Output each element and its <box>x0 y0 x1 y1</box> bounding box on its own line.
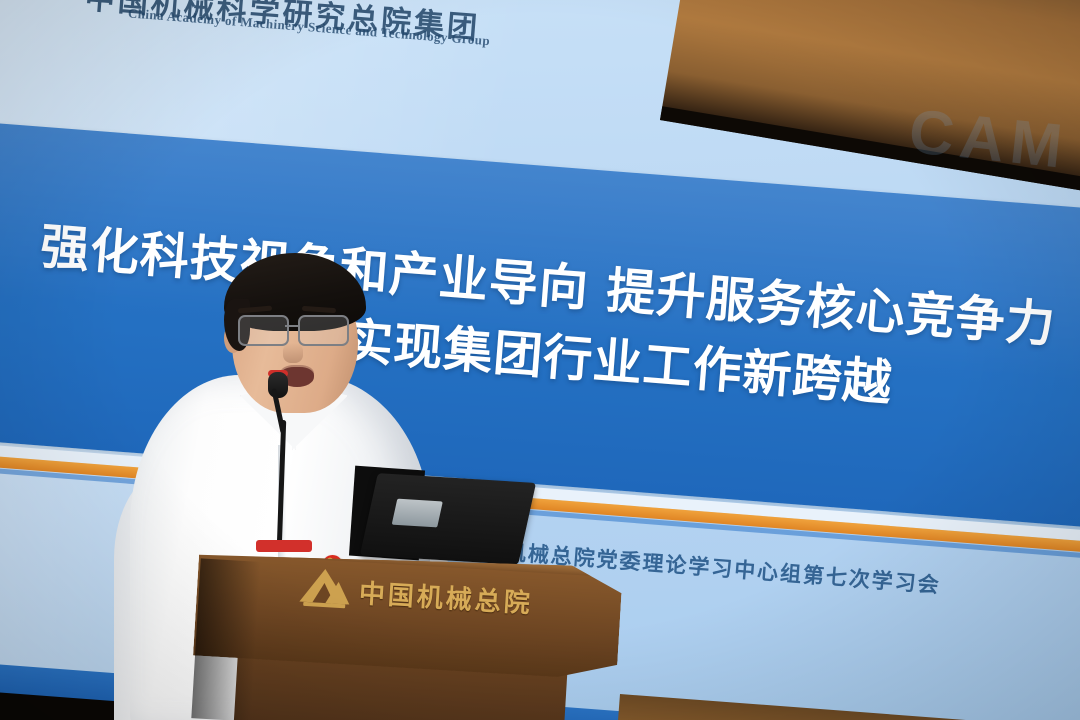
laptop-sticker <box>392 499 443 528</box>
cam-triangle-logo <box>299 570 349 609</box>
eyeglass-lens-left <box>238 315 289 346</box>
photo-stage: 中国机械科学研究总院集团 China Academy of Machinery … <box>0 0 1080 720</box>
eyeglass-bridge <box>285 325 298 327</box>
eyeglass-lens-right <box>298 315 349 346</box>
speaker-nose <box>283 343 303 363</box>
eyeglasses-icon <box>230 315 358 345</box>
podium-plaque-text: 中国机械总院 <box>358 573 534 620</box>
laptop-icon <box>360 473 536 565</box>
podium-shading <box>191 558 260 720</box>
microphone-base <box>256 540 312 552</box>
microphone-capsule-icon <box>268 372 288 398</box>
